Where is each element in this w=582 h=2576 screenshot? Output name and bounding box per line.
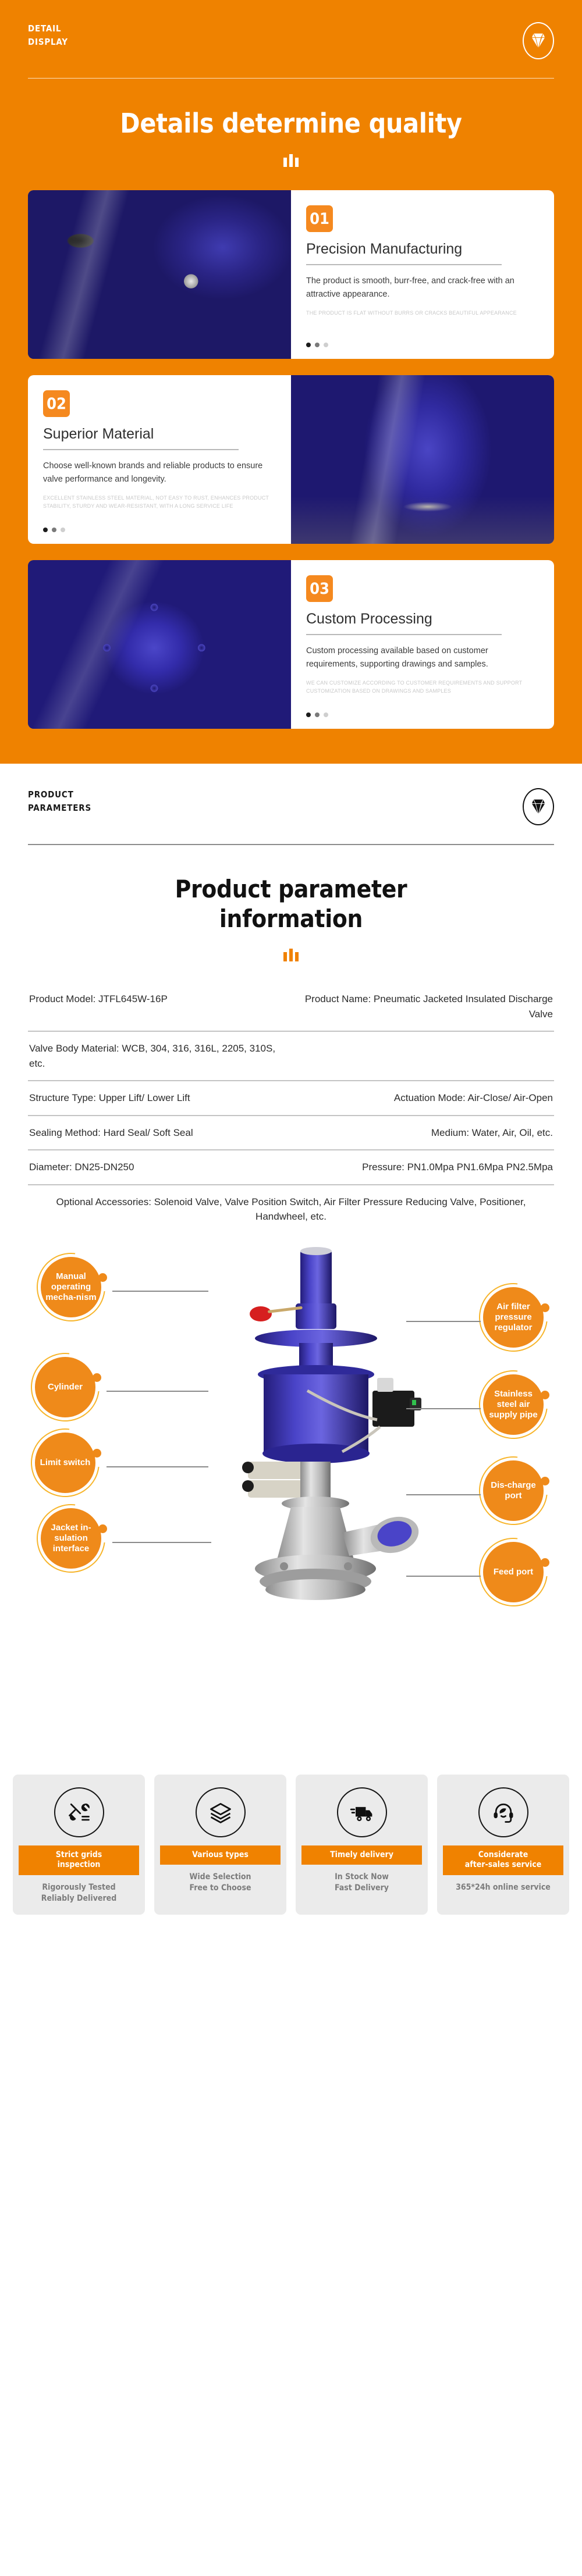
callout-knob bbox=[93, 1449, 101, 1458]
service-badge[interactable]: Timely delivery In Stock Now Fast Delive… bbox=[296, 1775, 428, 1915]
service-sub-line2: Free to Choose bbox=[189, 1883, 251, 1894]
service-badge-band: Various types bbox=[160, 1845, 281, 1865]
feature-card-body: 03 Custom Processing Custom processing a… bbox=[291, 560, 554, 729]
callout-knob bbox=[541, 1391, 549, 1399]
carousel-dots[interactable] bbox=[306, 703, 539, 717]
param-cell-left: Product Model: JTFL645W-16P bbox=[29, 992, 288, 1021]
param-title-decoration-ticks bbox=[28, 949, 554, 961]
callout-knob bbox=[98, 1273, 107, 1282]
param-cell-left: Diameter: DN25-DN250 bbox=[29, 1160, 288, 1175]
feature-card-subtext: WE CAN CUSTOMIZE ACCORDING TO CUSTOMER R… bbox=[306, 679, 539, 696]
service-sub-line2: Reliably Delivered bbox=[41, 1893, 116, 1904]
leader-line bbox=[112, 1291, 208, 1292]
callout-knob bbox=[98, 1524, 107, 1533]
labeled-product-diagram: Manual operating mecha-nism Cylinder Lim… bbox=[28, 1239, 554, 1763]
service-sub-line1: 365*24h online service bbox=[456, 1882, 551, 1893]
feature-card-image bbox=[28, 560, 291, 729]
param-header-divider bbox=[28, 844, 554, 845]
callout-air-filter-pressure-regulator[interactable]: Air filter pressure regulator bbox=[483, 1287, 544, 1348]
table-row: Structure Type: Upper Lift/ Lower Lift A… bbox=[28, 1081, 554, 1116]
callout-knob bbox=[93, 1373, 101, 1382]
service-sub-line1: Wide Selection bbox=[189, 1872, 251, 1883]
leader-line bbox=[112, 1542, 211, 1543]
feature-card-title: Precision Manufacturing bbox=[306, 240, 539, 264]
service-sub-line1: Rigorously Tested bbox=[41, 1882, 116, 1893]
diagram-product-image bbox=[203, 1245, 430, 1757]
feature-card-description: The product is smooth, burr-free, and cr… bbox=[306, 275, 539, 302]
service-badge-subtext: Wide Selection Free to Choose bbox=[189, 1872, 251, 1894]
feature-card-description: Custom processing available based on cus… bbox=[306, 644, 539, 672]
feature-card[interactable]: 02 Superior Material Choose well-known b… bbox=[28, 375, 554, 544]
title-decoration-ticks bbox=[28, 154, 554, 167]
detail-section-header: DETAIL DISPLAY bbox=[28, 17, 554, 59]
feature-card-title-rule bbox=[306, 264, 502, 265]
service-badge-band: Strict grids inspection bbox=[19, 1845, 139, 1875]
service-band-line2: inspection bbox=[21, 1860, 137, 1870]
param-page-title: Product parameter information bbox=[28, 874, 554, 934]
leader-line bbox=[406, 1494, 481, 1495]
feature-card-number: 01 bbox=[306, 205, 333, 232]
param-cell-left: Structure Type: Upper Lift/ Lower Lift bbox=[29, 1091, 288, 1106]
callout-knob bbox=[541, 1303, 549, 1312]
feature-card-title: Custom Processing bbox=[306, 610, 539, 634]
headset-support-icon bbox=[478, 1787, 528, 1837]
leader-line bbox=[107, 1391, 208, 1392]
carousel-dots[interactable] bbox=[306, 333, 539, 347]
feature-card-body: 02 Superior Material Choose well-known b… bbox=[28, 375, 291, 544]
param-kicker-line2: PARAMETERS bbox=[28, 801, 91, 815]
callout-label: Feed port bbox=[483, 1542, 544, 1602]
callout-jacket-insulation-interface[interactable]: Jacket in-sulation interface bbox=[41, 1508, 101, 1569]
callout-label: Manual operating mecha-nism bbox=[41, 1257, 101, 1317]
leader-line bbox=[107, 1466, 208, 1467]
service-band-line1: Strict grids bbox=[21, 1850, 137, 1861]
detail-kicker-line2: DISPLAY bbox=[28, 35, 68, 49]
callout-label: Cylinder bbox=[35, 1357, 95, 1417]
leader-line bbox=[406, 1576, 481, 1577]
leader-line bbox=[406, 1321, 481, 1322]
param-cell-right: Product Name: Pneumatic Jacketed Insulat… bbox=[294, 992, 553, 1021]
service-band-line1: Timely delivery bbox=[304, 1850, 420, 1861]
feature-card-number: 02 bbox=[43, 390, 70, 417]
callout-limit-switch[interactable]: Limit switch bbox=[35, 1433, 95, 1493]
feature-card-body: 01 Precision Manufacturing The product i… bbox=[291, 190, 554, 359]
service-badge-subtext: Rigorously Tested Reliably Delivered bbox=[41, 1882, 116, 1904]
param-kicker-line1: PRODUCT bbox=[28, 788, 91, 801]
callout-cylinder[interactable]: Cylinder bbox=[35, 1357, 95, 1417]
param-cell-right: Actuation Mode: Air-Close/ Air-Open bbox=[294, 1091, 553, 1106]
service-band-line2: after-sales service bbox=[445, 1860, 561, 1870]
param-cell-right bbox=[294, 1041, 553, 1071]
service-badge-band: Considerate after-sales service bbox=[443, 1845, 563, 1875]
param-cell-left: Sealing Method: Hard Seal/ Soft Seal bbox=[29, 1125, 288, 1141]
detail-kicker: DETAIL DISPLAY bbox=[28, 22, 68, 49]
service-badge[interactable]: Various types Wide Selection Free to Cho… bbox=[154, 1775, 286, 1915]
detail-display-section: DETAIL DISPLAY Details determine quality… bbox=[0, 0, 582, 764]
feature-card-title-rule bbox=[43, 449, 239, 450]
feature-card-image bbox=[291, 375, 554, 544]
service-badge[interactable]: Considerate after-sales service 365*24h … bbox=[437, 1775, 569, 1915]
service-badge-subtext: 365*24h online service bbox=[456, 1882, 551, 1893]
table-row: Diameter: DN25-DN250 Pressure: PN1.0Mpa … bbox=[28, 1150, 554, 1185]
param-cell-right: Pressure: PN1.0Mpa PN1.6Mpa PN2.5Mpa bbox=[294, 1160, 553, 1175]
service-badge-subtext: In Stock Now Fast Delivery bbox=[335, 1872, 389, 1894]
callout-knob bbox=[541, 1477, 549, 1485]
callout-label: Jacket in-sulation interface bbox=[41, 1508, 101, 1569]
feature-card-list: 01 Precision Manufacturing The product i… bbox=[28, 190, 554, 729]
carousel-dots[interactable] bbox=[43, 518, 276, 532]
service-badge-band: Timely delivery bbox=[301, 1845, 422, 1865]
table-row: Product Model: JTFL645W-16P Product Name… bbox=[28, 982, 554, 1032]
param-title-line2: information bbox=[219, 904, 363, 933]
callout-feed-port[interactable]: Feed port bbox=[483, 1542, 544, 1602]
feature-card-subtext: EXCELLENT STAINLESS STEEL MATERIAL, NOT … bbox=[43, 494, 276, 511]
feature-card-subtext: THE PRODUCT IS FLAT WITHOUT BURRS OR CRA… bbox=[306, 309, 539, 318]
diamond-icon bbox=[523, 788, 554, 825]
callout-label: Air filter pressure regulator bbox=[483, 1287, 544, 1348]
delivery-truck-icon bbox=[337, 1787, 387, 1837]
callout-discharge-port[interactable]: Dis-charge port bbox=[483, 1460, 544, 1521]
callout-manual-operating-mechanism[interactable]: Manual operating mecha-nism bbox=[41, 1257, 101, 1317]
param-cell-accessories: Optional Accessories: Solenoid Valve, Va… bbox=[29, 1195, 553, 1224]
service-badge-list: Strict grids inspection Rigorously Teste… bbox=[0, 1763, 582, 1931]
service-band-line1: Considerate bbox=[445, 1850, 561, 1861]
callout-label: Stainless steel air supply pipe bbox=[483, 1374, 544, 1435]
parameter-table: Product Model: JTFL645W-16P Product Name… bbox=[28, 982, 554, 1234]
param-section-header: PRODUCT PARAMETERS bbox=[28, 783, 554, 825]
service-badge[interactable]: Strict grids inspection Rigorously Teste… bbox=[13, 1775, 145, 1915]
service-sub-line1: In Stock Now bbox=[335, 1872, 389, 1883]
feature-card-description: Choose well-known brands and reliable pr… bbox=[43, 459, 276, 487]
detail-kicker-line1: DETAIL bbox=[28, 22, 68, 35]
callout-stainless-steel-air-supply-pipe[interactable]: Stainless steel air supply pipe bbox=[483, 1374, 544, 1435]
diamond-icon bbox=[523, 22, 554, 59]
leader-line bbox=[406, 1408, 481, 1409]
wrench-screwdriver-icon bbox=[54, 1787, 104, 1837]
param-kicker: PRODUCT PARAMETERS bbox=[28, 788, 91, 815]
callout-knob bbox=[541, 1558, 549, 1567]
feature-card-image bbox=[28, 190, 291, 359]
param-cell-left: Valve Body Material: WCB, 304, 316, 316L… bbox=[29, 1041, 288, 1071]
feature-card-title-rule bbox=[306, 634, 502, 635]
service-sub-line2: Fast Delivery bbox=[335, 1883, 389, 1894]
product-detail-page: DETAIL DISPLAY Details determine quality… bbox=[0, 0, 582, 1931]
feature-card[interactable]: 01 Precision Manufacturing The product i… bbox=[28, 190, 554, 359]
callout-label: Limit switch bbox=[35, 1433, 95, 1493]
callout-label: Dis-charge port bbox=[483, 1460, 544, 1521]
detail-header-divider bbox=[28, 78, 554, 79]
param-title-line1: Product parameter bbox=[175, 875, 407, 903]
param-cell-right: Medium: Water, Air, Oil, etc. bbox=[294, 1125, 553, 1141]
detail-title: Details determine quality bbox=[28, 108, 554, 139]
service-band-line1: Various types bbox=[162, 1850, 278, 1861]
feature-card[interactable]: 03 Custom Processing Custom processing a… bbox=[28, 560, 554, 729]
layers-icon bbox=[196, 1787, 246, 1837]
table-row: Valve Body Material: WCB, 304, 316, 316L… bbox=[28, 1032, 554, 1081]
feature-card-number: 03 bbox=[306, 575, 333, 602]
table-row: Sealing Method: Hard Seal/ Soft Seal Med… bbox=[28, 1116, 554, 1151]
feature-card-title: Superior Material bbox=[43, 425, 276, 449]
table-row: Optional Accessories: Solenoid Valve, Va… bbox=[28, 1185, 554, 1234]
product-parameters-section: PRODUCT PARAMETERS Product parameter inf… bbox=[0, 764, 582, 1763]
